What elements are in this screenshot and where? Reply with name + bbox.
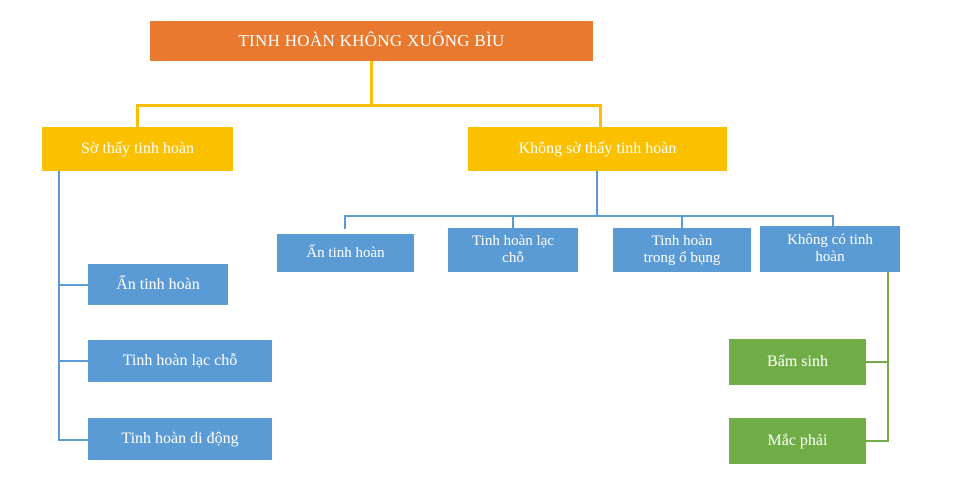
connector-right-drop-1 <box>344 215 346 229</box>
connector-right-drop-2 <box>512 215 514 229</box>
connector-left-branch-3 <box>58 439 90 441</box>
node-bam-sinh[interactable]: Bẩm sinh <box>729 339 866 385</box>
node-left-tinh-hoan-lac-cho[interactable]: Tinh hoàn lạc chỗ <box>88 340 272 382</box>
node-nonpalpable-testis[interactable]: Không sờ thấy tinh hoàn <box>468 127 727 171</box>
connector-right-stem <box>596 170 598 217</box>
node-right-khong-co-tinh-hoan[interactable]: Không có tinh hoàn <box>760 226 900 272</box>
connector-left-branch-1 <box>58 284 90 286</box>
connector-left-spine <box>58 170 60 441</box>
connector-green-spine <box>887 272 889 442</box>
connector-title-to-left <box>136 104 139 129</box>
connector-title-stem <box>370 60 373 107</box>
node-left-tinh-hoan-di-dong[interactable]: Tinh hoàn di động <box>88 418 272 460</box>
connector-left-branch-2 <box>58 360 90 362</box>
node-right-tinh-hoan-lac-cho[interactable]: Tinh hoàn lạc chỗ <box>448 228 578 272</box>
flowchart-canvas: TINH HOÀN KHÔNG XUỐNG BÌU Sờ thấy tinh h… <box>0 0 978 503</box>
node-right-an-tinh-hoan[interactable]: Ẩn tinh hoàn <box>277 234 414 272</box>
node-palpable-testis[interactable]: Sờ thấy tinh hoàn <box>42 127 233 171</box>
connector-right-drop-3 <box>681 215 683 229</box>
node-root-title[interactable]: TINH HOÀN KHÔNG XUỐNG BÌU <box>150 21 593 61</box>
node-right-tinh-hoan-trong-o-bung[interactable]: Tinh hoàn trong ổ bụng <box>613 228 751 272</box>
connector-green-branch-1 <box>866 361 889 363</box>
connector-green-branch-2 <box>866 440 889 442</box>
node-left-an-tinh-hoan[interactable]: Ẩn tinh hoàn <box>88 264 228 305</box>
connector-title-bus <box>136 104 602 107</box>
node-mac-phai[interactable]: Mắc phải <box>729 418 866 464</box>
connector-right-bus <box>344 215 834 217</box>
connector-title-to-right <box>599 104 602 129</box>
